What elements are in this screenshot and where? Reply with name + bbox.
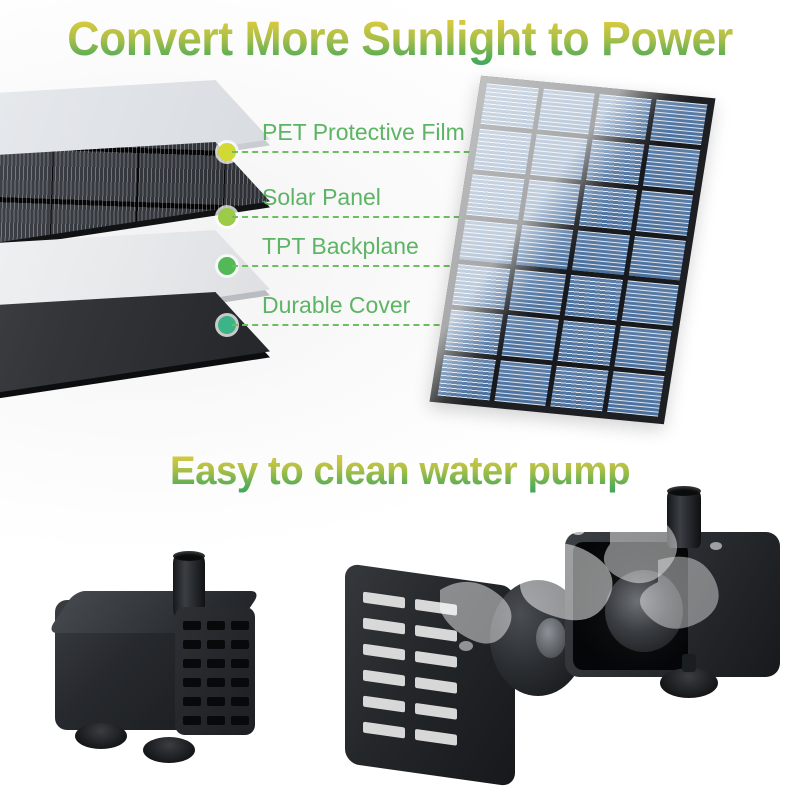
solar-cell (650, 100, 708, 145)
solar-cell-grid (438, 83, 708, 416)
grille-slot (231, 621, 249, 630)
solar-panel-photo (430, 76, 716, 425)
grille-slot (207, 716, 225, 725)
pump-intake-grille (175, 607, 255, 735)
callout-label: Solar Panel (262, 184, 381, 211)
callout-label: PET Protective Film (262, 119, 465, 146)
pump-suction-foot (143, 737, 195, 763)
solar-cell (459, 219, 517, 264)
water-pump-assembled (55, 555, 275, 770)
grille-slot (363, 696, 405, 713)
solar-cell (445, 310, 503, 355)
grille-slot (231, 697, 249, 706)
grille-slot (183, 697, 201, 706)
solar-cell (550, 366, 608, 411)
solar-cell (607, 371, 665, 416)
pump-impeller (605, 570, 683, 652)
solar-cell (579, 185, 637, 230)
layer-durable-cover (0, 292, 270, 402)
solar-cell (530, 134, 588, 179)
solar-cell (642, 145, 700, 190)
solar-cell (501, 315, 559, 360)
water-pump-disassembled-body (555, 490, 790, 720)
layer-face (0, 292, 270, 402)
grille-slot (363, 644, 405, 661)
grille-slot (231, 659, 249, 668)
grille-slot (207, 659, 225, 668)
solar-cell (452, 264, 510, 309)
pump-suction-foot (660, 668, 718, 698)
solar-cell (586, 139, 644, 184)
grille-slot (363, 670, 405, 687)
grille-slot (363, 722, 405, 739)
grille-slot (415, 729, 457, 746)
grille-slot (415, 599, 457, 616)
grille-slot (415, 625, 457, 642)
grille-slot (231, 678, 249, 687)
solar-cell (593, 94, 651, 139)
solar-cell (621, 281, 679, 326)
grille-slot (207, 678, 225, 687)
callout-dashed-line (232, 216, 490, 218)
grille-slot (415, 703, 457, 720)
solar-cell (628, 235, 686, 280)
pump-suction-foot (75, 723, 127, 749)
grille-slot (231, 716, 249, 725)
grille-slot (363, 618, 405, 635)
grille-slot (183, 659, 201, 668)
solar-cell (481, 83, 539, 128)
solar-cell (466, 174, 524, 219)
grille-slot (415, 651, 457, 668)
grille-slot (183, 621, 201, 630)
grille-slot (207, 621, 225, 630)
solar-cell (508, 270, 566, 315)
solar-cell (473, 129, 531, 174)
grille-slot (231, 640, 249, 649)
exploded-layer-stack (0, 80, 300, 380)
solar-cell (572, 230, 630, 275)
solar-cell (494, 361, 552, 406)
callout-label: Durable Cover (262, 292, 410, 319)
solar-cell (515, 225, 573, 270)
grille-slot (415, 677, 457, 694)
solar-cell (537, 89, 595, 134)
solar-cell (523, 179, 581, 224)
pump-outlet-spout (667, 490, 701, 548)
grille-slot (183, 678, 201, 687)
grille-slot (363, 592, 405, 609)
infographic-canvas: Convert More Sunlight to Power PET Prote… (0, 0, 800, 800)
page-title: Convert More Sunlight to Power (28, 12, 772, 68)
solar-cell (565, 275, 623, 320)
solar-cell (557, 321, 615, 366)
solar-cell (438, 355, 496, 400)
callout-dashed-line (232, 151, 490, 153)
grille-slot (207, 697, 225, 706)
solar-cell (614, 326, 672, 371)
grille-slot (207, 640, 225, 649)
solar-cell (635, 190, 693, 235)
grille-slot (183, 640, 201, 649)
callout-label: TPT Backplane (262, 233, 419, 260)
grille-slot (183, 716, 201, 725)
